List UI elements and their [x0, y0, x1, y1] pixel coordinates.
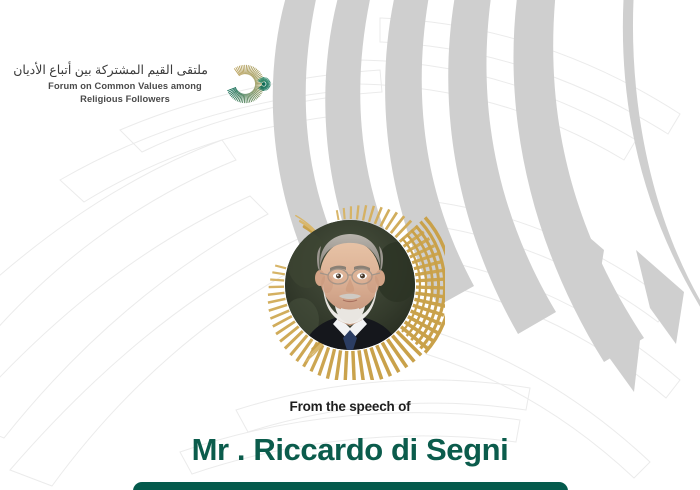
- bottom-accent-bar: [133, 482, 568, 490]
- logo-arabic-title: ملتقى القيم المشتركة بين أتباع الأديان: [42, 62, 208, 79]
- page-title: Mr . Riccardo di Segni: [0, 432, 700, 468]
- speaker-portrait-frame: [255, 190, 445, 380]
- speaker-portrait: [285, 220, 415, 350]
- logo-text-block: ملتقى القيم المشتركة بين أتباع الأديان F…: [42, 62, 208, 106]
- caption-eyebrow: From the speech of: [0, 399, 700, 414]
- forum-circular-rays-logo-icon: [222, 55, 280, 113]
- logo-english-line-2: Religious Followers: [42, 93, 208, 106]
- speaker-quote-card: ملتقى القيم المشتركة بين أتباع الأديان F…: [0, 0, 700, 490]
- forum-logo-header: ملتقى القيم المشتركة بين أتباع الأديان F…: [42, 55, 280, 113]
- logo-english-line-1: Forum on Common Values among: [42, 80, 208, 93]
